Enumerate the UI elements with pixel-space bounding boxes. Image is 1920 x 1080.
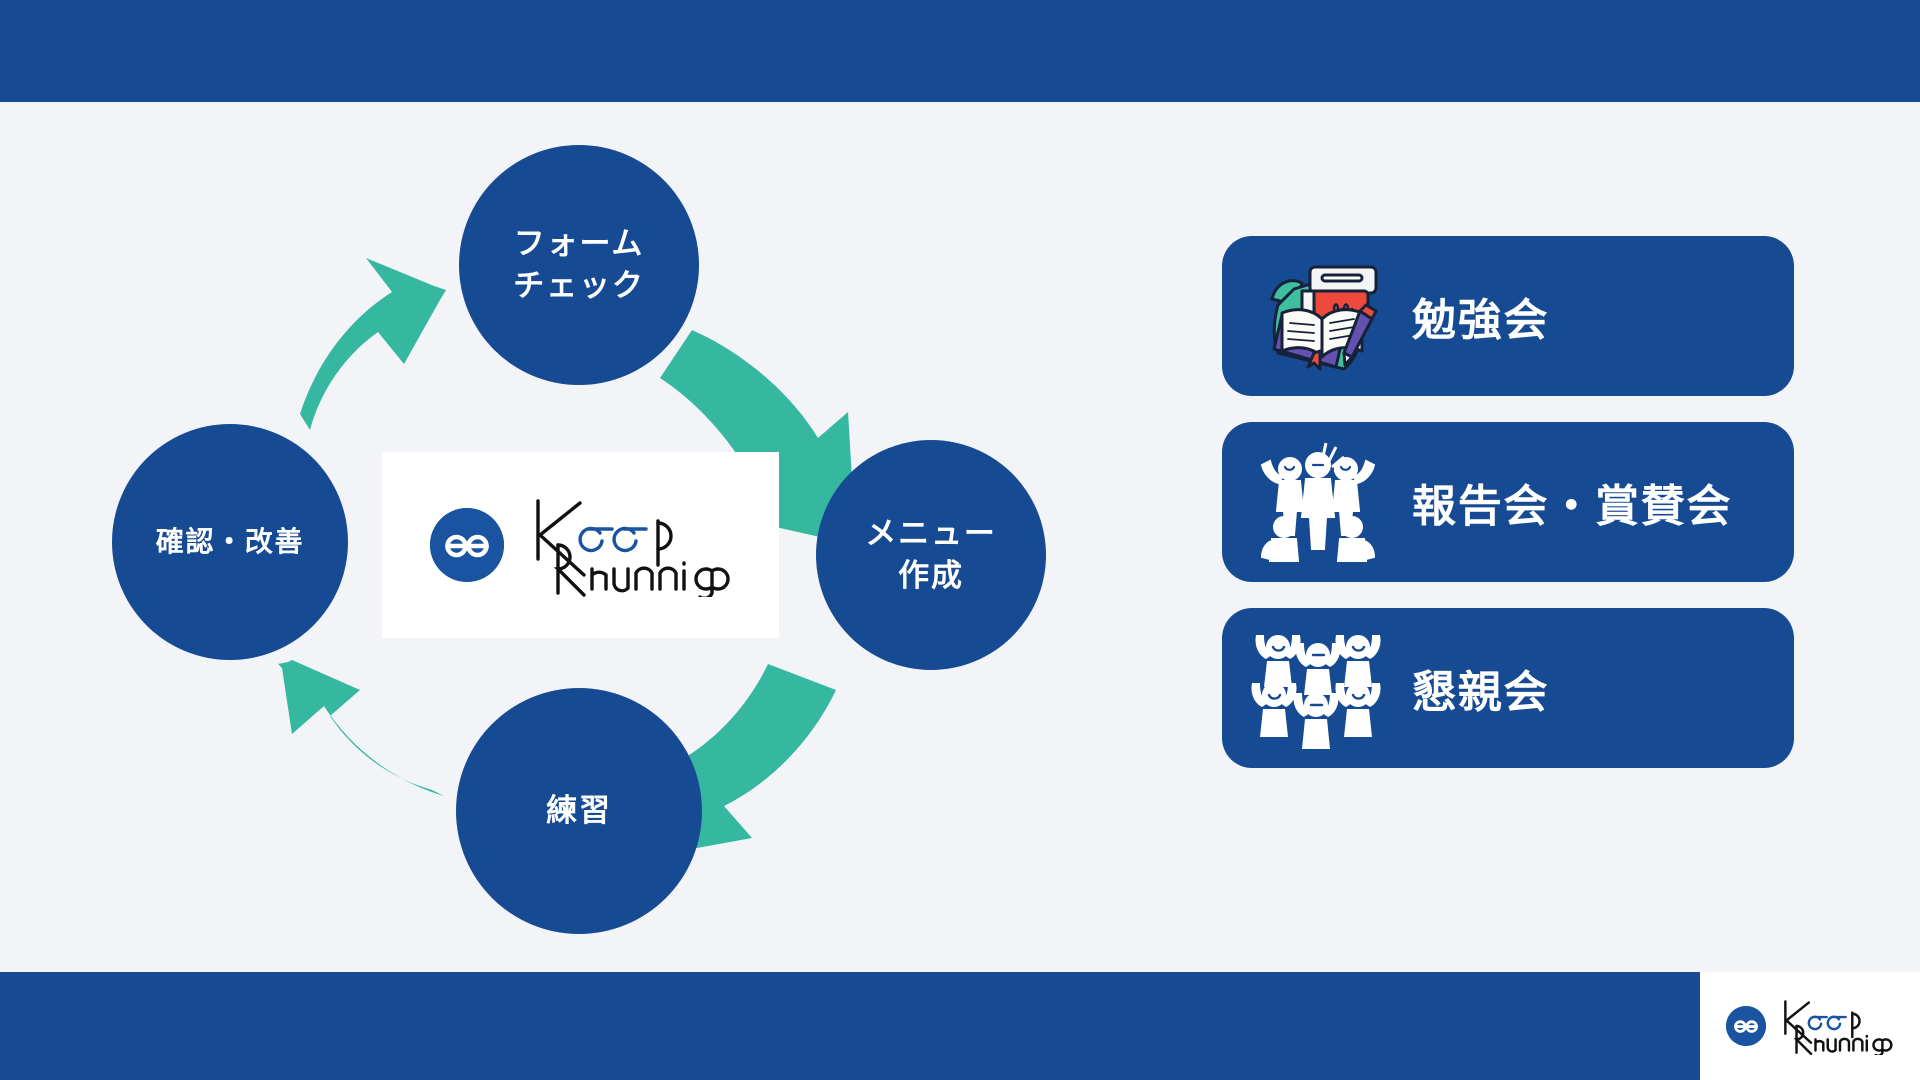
cycle-node-review-improve[interactable]: 確認・改善	[112, 424, 348, 660]
center-logo-card	[382, 452, 779, 638]
activity-card-social-gathering[interactable]: 懇親会	[1222, 608, 1794, 768]
arrow-review-to-form-check	[300, 258, 446, 430]
footer-logo-panel	[1700, 972, 1920, 1080]
keep-running-wordmark	[522, 493, 732, 597]
cycle-node-menu-creation-line2: 作成	[898, 555, 964, 597]
cheering-people-group-icon	[1248, 438, 1388, 566]
top-brand-bar	[0, 0, 1920, 102]
cycle-node-menu-creation[interactable]: メニュー 作成	[816, 440, 1046, 670]
arrow-practice-to-review	[278, 660, 444, 796]
activity-card-study-meeting[interactable]: 勉強会	[1222, 236, 1794, 396]
cycle-node-form-check[interactable]: フォーム チェック	[459, 145, 699, 385]
cycle-node-menu-creation-line1: メニュー	[865, 513, 996, 555]
cycle-node-form-check-line1: フォーム	[514, 223, 645, 265]
activities-card-list: 勉強会	[1222, 236, 1794, 794]
cycle-node-practice[interactable]: 練習	[456, 688, 702, 934]
open-book-and-pencil-icon	[1248, 252, 1388, 380]
activity-card-social-gathering-label: 懇親会	[1412, 656, 1549, 720]
bottom-brand-bar	[0, 972, 1700, 1080]
cycle-node-form-check-line2: チェック	[513, 265, 644, 307]
activity-card-report-praise-meeting[interactable]: 報告会・賞賛会	[1222, 422, 1794, 582]
footer-circle-mark-icon	[1726, 1006, 1766, 1046]
activity-card-report-praise-meeting-label: 報告会・賞賛会	[1412, 470, 1732, 534]
keep-running-circle-mark-icon	[430, 508, 504, 582]
cycle-node-practice-line1: 練習	[546, 790, 612, 832]
cycle-node-review-improve-line1: 確認・改善	[156, 523, 304, 561]
footer-wordmark	[1775, 997, 1895, 1055]
six-raised-hands-people-icon	[1248, 624, 1388, 752]
footer-keep-running-logo	[1726, 997, 1895, 1055]
slide-canvas: フォーム チェック メニュー 作成 練習 確認・改善	[0, 0, 1920, 1080]
activity-card-study-meeting-label: 勉強会	[1412, 284, 1549, 348]
